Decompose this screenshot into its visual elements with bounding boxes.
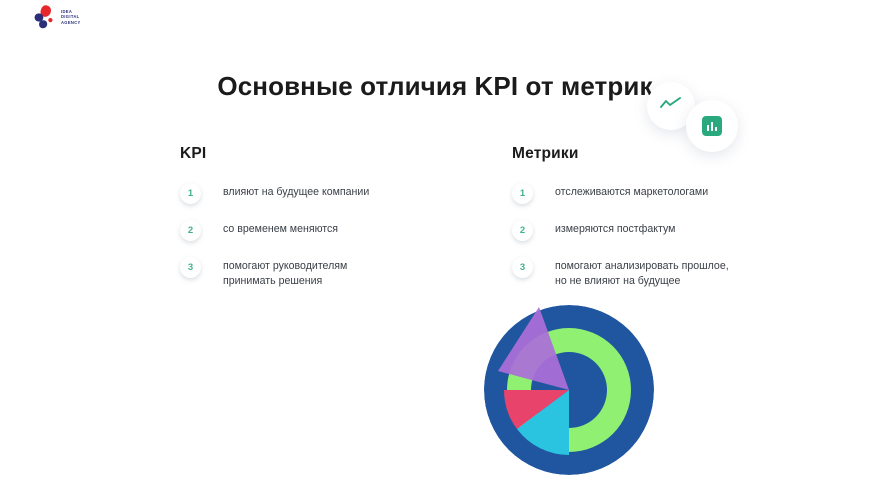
list-item-label: влияют на будущее компании xyxy=(223,185,369,200)
list-item: 3 помогают руководителям принимать решен… xyxy=(180,259,480,288)
line-chart-icon xyxy=(660,97,682,116)
column-metrics-title: Метрики xyxy=(512,145,832,163)
target-rings-icon xyxy=(484,305,654,475)
list-item-number: 1 xyxy=(512,183,533,204)
list-item-number: 2 xyxy=(512,220,533,241)
brand-logo: IDEA DIGITAL AGENCY xyxy=(28,4,118,32)
column-metrics-list: 1 отслеживаются маркетологами 2 измеряют… xyxy=(512,185,832,288)
column-kpi: KPI 1 влияют на будущее компании 2 со вр… xyxy=(180,145,480,306)
list-item-number: 3 xyxy=(512,257,533,278)
idea-digital-logo-icon xyxy=(28,4,58,32)
list-item: 2 измеряются постфактум xyxy=(512,222,832,241)
list-item-label: измеряются постфактум xyxy=(555,222,675,237)
list-item: 1 отслеживаются маркетологами xyxy=(512,185,832,204)
list-item-number: 1 xyxy=(180,183,201,204)
column-kpi-list: 1 влияют на будущее компании 2 со времен… xyxy=(180,185,480,288)
list-item-label: отслеживаются маркетологами xyxy=(555,185,708,200)
list-item: 3 помогают анализировать прошлое, но не … xyxy=(512,259,832,288)
list-item: 2 со временем меняются xyxy=(180,222,480,241)
list-item-number: 3 xyxy=(180,257,201,278)
list-item-label: со временем меняются xyxy=(223,222,338,237)
brand-logo-text: IDEA DIGITAL AGENCY xyxy=(61,9,81,25)
column-kpi-title: KPI xyxy=(180,145,480,163)
list-item-label: помогают анализировать прошлое, но не вл… xyxy=(555,259,729,288)
page-title: Основные отличия KPI от метрик xyxy=(0,71,870,102)
list-item-label: помогают руководителям принимать решения xyxy=(223,259,347,288)
list-item-number: 2 xyxy=(180,220,201,241)
column-metrics: Метрики 1 отслеживаются маркетологами 2 … xyxy=(512,145,832,306)
bar-chart-badge xyxy=(686,100,738,152)
bar-chart-icon xyxy=(702,116,722,136)
brand-name-line-3: AGENCY xyxy=(61,20,81,25)
list-item: 1 влияют на будущее компании xyxy=(180,185,480,204)
